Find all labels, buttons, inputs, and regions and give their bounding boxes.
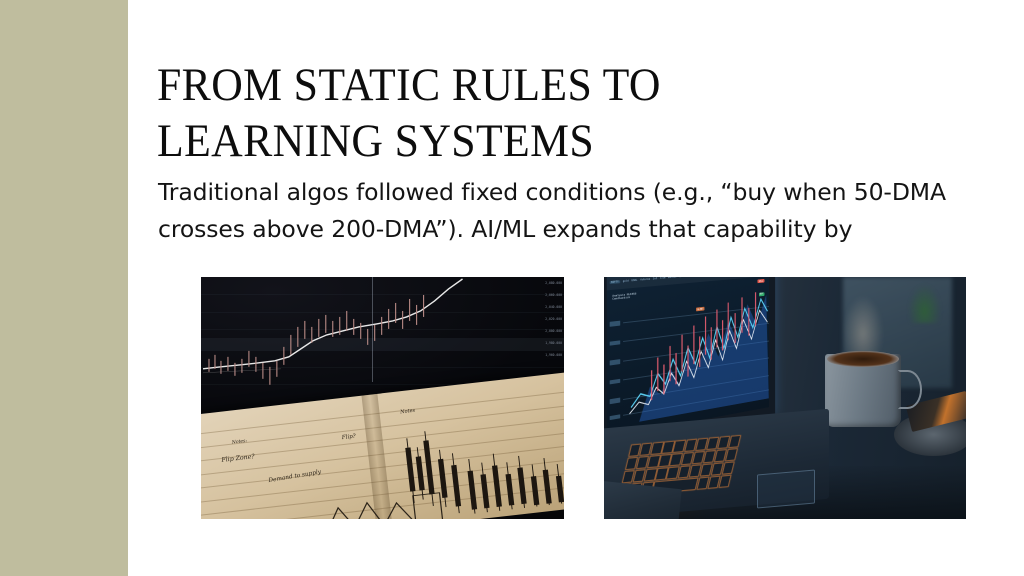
page-title: From static rules to learning systems bbox=[157, 57, 808, 169]
left-photo-content: 2,080.000 2,060.000 2,040.000 2,020.000 … bbox=[201, 277, 564, 519]
note-left-line3: Flip? bbox=[342, 433, 357, 441]
tab-nifty[interactable]: NIFTY bbox=[610, 280, 620, 284]
crosshair-line bbox=[372, 277, 373, 382]
right-photo-content: NIFTY gold USDL futures 2x3 live market … bbox=[604, 277, 966, 519]
tab-new[interactable]: NEW bbox=[679, 277, 683, 278]
note-left-line2: Demand to supply bbox=[269, 470, 323, 485]
slide-body-text: Traditional algos followed fixed conditi… bbox=[158, 174, 958, 248]
price-tick: 2,080.000 bbox=[504, 281, 562, 285]
tab-gold[interactable]: gold bbox=[623, 279, 629, 282]
chart-tab-bar[interactable]: NIFTY gold USDL futures 2x3 live market … bbox=[607, 277, 769, 290]
presentation-slide: From static rules to learning systems Tr… bbox=[0, 0, 1024, 576]
plant-blur bbox=[908, 284, 941, 323]
price-tick: 1,960.000 bbox=[504, 353, 562, 357]
image-laptop-coffee: NIFTY gold USDL futures 2x3 live market … bbox=[604, 277, 966, 519]
price-tick: 2,060.000 bbox=[504, 293, 562, 297]
price-tick: 2,040.000 bbox=[504, 305, 562, 309]
laptop-right: NIFTY gold USDL futures 2x3 live market … bbox=[604, 277, 828, 519]
coffee-surface bbox=[827, 351, 898, 367]
tab-usdl[interactable]: USDL bbox=[632, 279, 638, 282]
coffee-cup bbox=[825, 354, 901, 427]
steam bbox=[843, 296, 883, 359]
sell-badge[interactable]: SELL bbox=[758, 279, 765, 283]
chart-header: Analysis HLX350 Candlestick bbox=[612, 292, 636, 301]
price-tick: 2,020.000 bbox=[504, 317, 562, 321]
trackpad[interactable] bbox=[757, 470, 815, 509]
price-tick: 1,980.000 bbox=[504, 341, 562, 345]
note-left-heading: Notes: bbox=[232, 439, 248, 446]
note-left-line1: Flip Zone? bbox=[222, 453, 256, 464]
laptop-screen-right: NIFTY gold USDL futures 2x3 live market … bbox=[607, 277, 769, 437]
chart-type: Candlestick bbox=[612, 296, 636, 302]
tab-futures[interactable]: futures bbox=[640, 278, 650, 282]
hand-drawn-candles bbox=[394, 401, 564, 519]
tab-2x3[interactable]: 2x3 bbox=[653, 277, 657, 280]
buy-badge[interactable]: BUY bbox=[759, 292, 765, 296]
note-right-heading: Notes bbox=[400, 407, 416, 415]
tab-market[interactable]: market bbox=[668, 277, 676, 279]
image-tradingview-notebook: 2,080.000 2,060.000 2,040.000 2,020.000 … bbox=[201, 277, 564, 519]
accent-band bbox=[0, 0, 128, 576]
tab-live[interactable]: live bbox=[660, 277, 666, 280]
price-tick: 2,000.000 bbox=[504, 329, 562, 333]
